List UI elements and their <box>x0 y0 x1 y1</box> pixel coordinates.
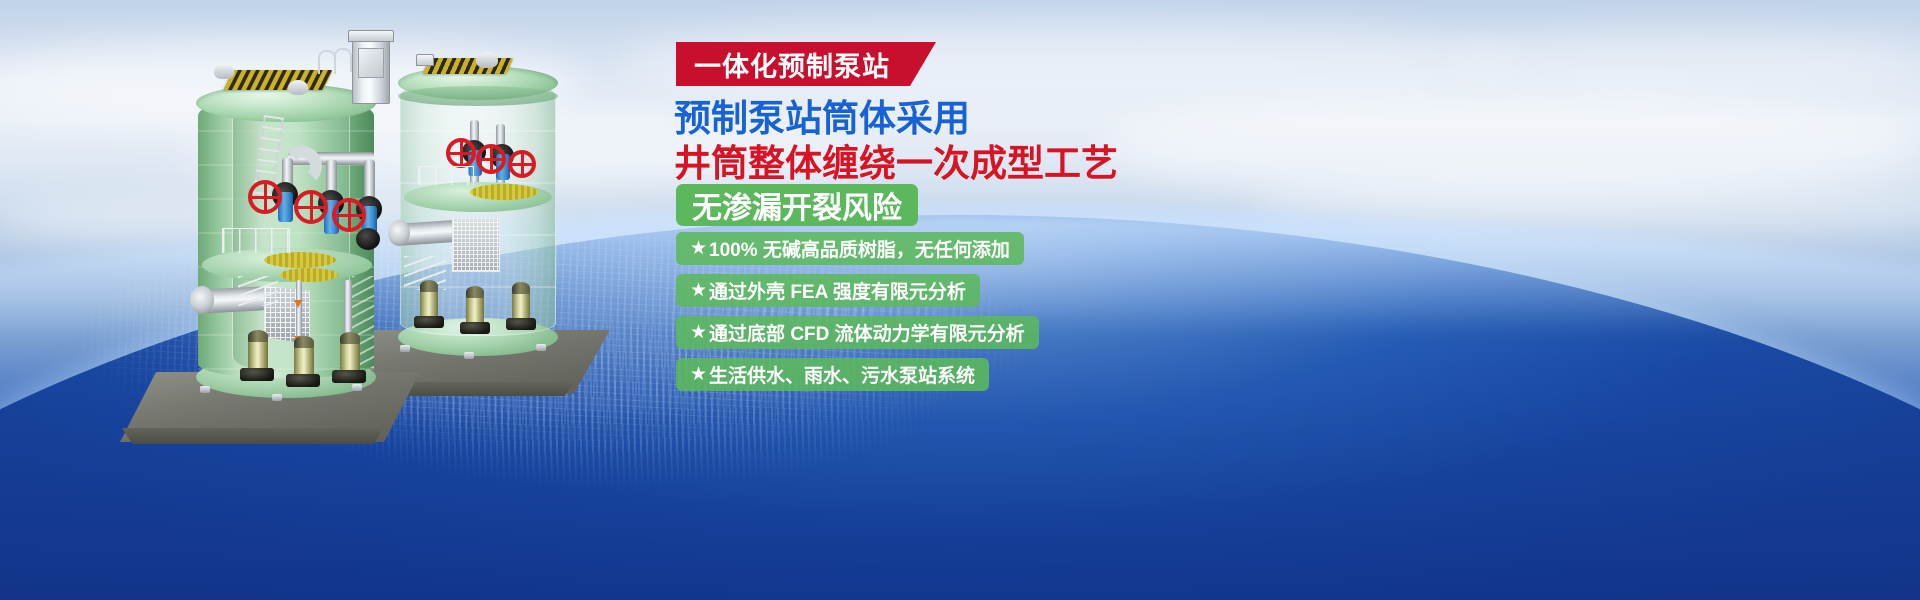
pump-base <box>332 370 366 383</box>
flow-arrow <box>294 300 302 308</box>
pump-motor-cap <box>466 286 484 298</box>
vent-cowl-right <box>476 52 498 68</box>
pump-motor-cap <box>512 282 530 294</box>
product-illustration <box>0 0 700 600</box>
feature-pill: ★ 通过底部 CFD 流体动力学有限元分析 <box>676 316 1039 349</box>
pump-base <box>286 374 320 387</box>
feature-text: 生活供水、雨水、污水泵站系统 <box>709 361 975 388</box>
anchor-foot <box>272 394 282 401</box>
feature-pill: ★ 生活供水、雨水、污水泵站系统 <box>676 358 989 391</box>
feature-text: 通过外壳 FEA 强度有限元分析 <box>709 277 966 304</box>
list-item: ★ 通过外壳 FEA 强度有限元分析 <box>676 274 1039 316</box>
screen-panel-right <box>452 218 500 272</box>
deck-grating-left <box>280 268 338 282</box>
handwheel-valve-icon <box>446 138 476 168</box>
star-icon: ★ <box>690 239 707 258</box>
small-cabinet-right <box>416 54 434 66</box>
handwheel-valve-icon <box>476 144 506 174</box>
promo-banner: 一体化预制泵站 预制泵站筒体采用 井筒整体缠绕一次成型工艺 无渗漏开裂风险 ★ … <box>0 0 1920 600</box>
top-cap-rim-right <box>398 86 558 106</box>
inlet-flange-left <box>190 286 214 314</box>
anchor-foot <box>464 352 474 359</box>
list-item: ★ 通过底部 CFD 流体动力学有限元分析 <box>676 316 1039 358</box>
feature-text: 100% 无碱高品质树脂，无任何添加 <box>709 235 1010 262</box>
ribbon-label: 一体化预制泵站 <box>694 45 890 84</box>
roof-hatch-right <box>422 58 513 74</box>
pump-motor-cap <box>420 280 438 292</box>
highlight-badge: 无渗漏开裂风险 <box>676 184 918 226</box>
vent-cowl-left <box>288 80 308 95</box>
pump-motor-cap <box>294 336 314 348</box>
pump-base <box>240 368 274 381</box>
deck-grating-right <box>470 184 538 200</box>
roof-hatch-left <box>223 70 333 90</box>
handwheel-valve-icon <box>248 180 282 214</box>
star-icon: ★ <box>690 365 707 384</box>
pump-base <box>414 316 444 328</box>
product-category-ribbon: 一体化预制泵站 <box>676 42 936 86</box>
pump-base <box>460 322 490 334</box>
control-cabinet-roof <box>348 30 394 42</box>
highlight-label: 无渗漏开裂风险 <box>692 183 902 227</box>
headline-secondary: 井筒整体缠绕一次成型工艺 <box>674 133 1118 187</box>
deck-grating-left <box>264 252 336 268</box>
anchor-foot <box>400 345 410 352</box>
anchor-foot <box>200 386 210 393</box>
pump-motor-cap <box>340 332 360 344</box>
star-icon: ★ <box>690 323 707 342</box>
valve-flange <box>356 228 380 250</box>
feature-list: ★ 100% 无碱高品质树脂，无任何添加 ★ 通过外壳 FEA 强度有限元分析 … <box>676 232 1039 400</box>
feature-pill: ★ 通过外壳 FEA 强度有限元分析 <box>676 274 980 307</box>
pump-motor-cap <box>248 330 268 342</box>
deck-railing-right <box>418 166 474 185</box>
lifting-hook <box>334 48 352 72</box>
deck-railing-left <box>222 228 290 253</box>
internal-stair-left <box>238 276 278 306</box>
feature-pill: ★ 100% 无碱高品质树脂，无任何添加 <box>676 232 1024 265</box>
handwheel-valve-icon <box>294 190 328 224</box>
list-item: ★ 100% 无碱高品质树脂，无任何添加 <box>676 232 1039 274</box>
star-icon: ★ <box>690 281 707 300</box>
list-item: ★ 生活供水、雨水、污水泵站系统 <box>676 358 1039 400</box>
anchor-foot <box>352 384 362 391</box>
inlet-flange-right <box>388 220 410 246</box>
pump-base <box>506 318 536 330</box>
feature-text: 通过底部 CFD 流体动力学有限元分析 <box>709 319 1025 346</box>
handwheel-valve-icon <box>508 150 536 178</box>
anchor-foot <box>536 344 546 351</box>
handwheel-valve-icon <box>332 198 366 232</box>
cabinet-door <box>358 48 384 78</box>
vent-cowl-left <box>214 64 234 79</box>
marketing-copy-block: 一体化预制泵站 预制泵站筒体采用 井筒整体缠绕一次成型工艺 无渗漏开裂风险 ★ … <box>668 0 1228 600</box>
concrete-pad-edge-left <box>122 428 384 444</box>
